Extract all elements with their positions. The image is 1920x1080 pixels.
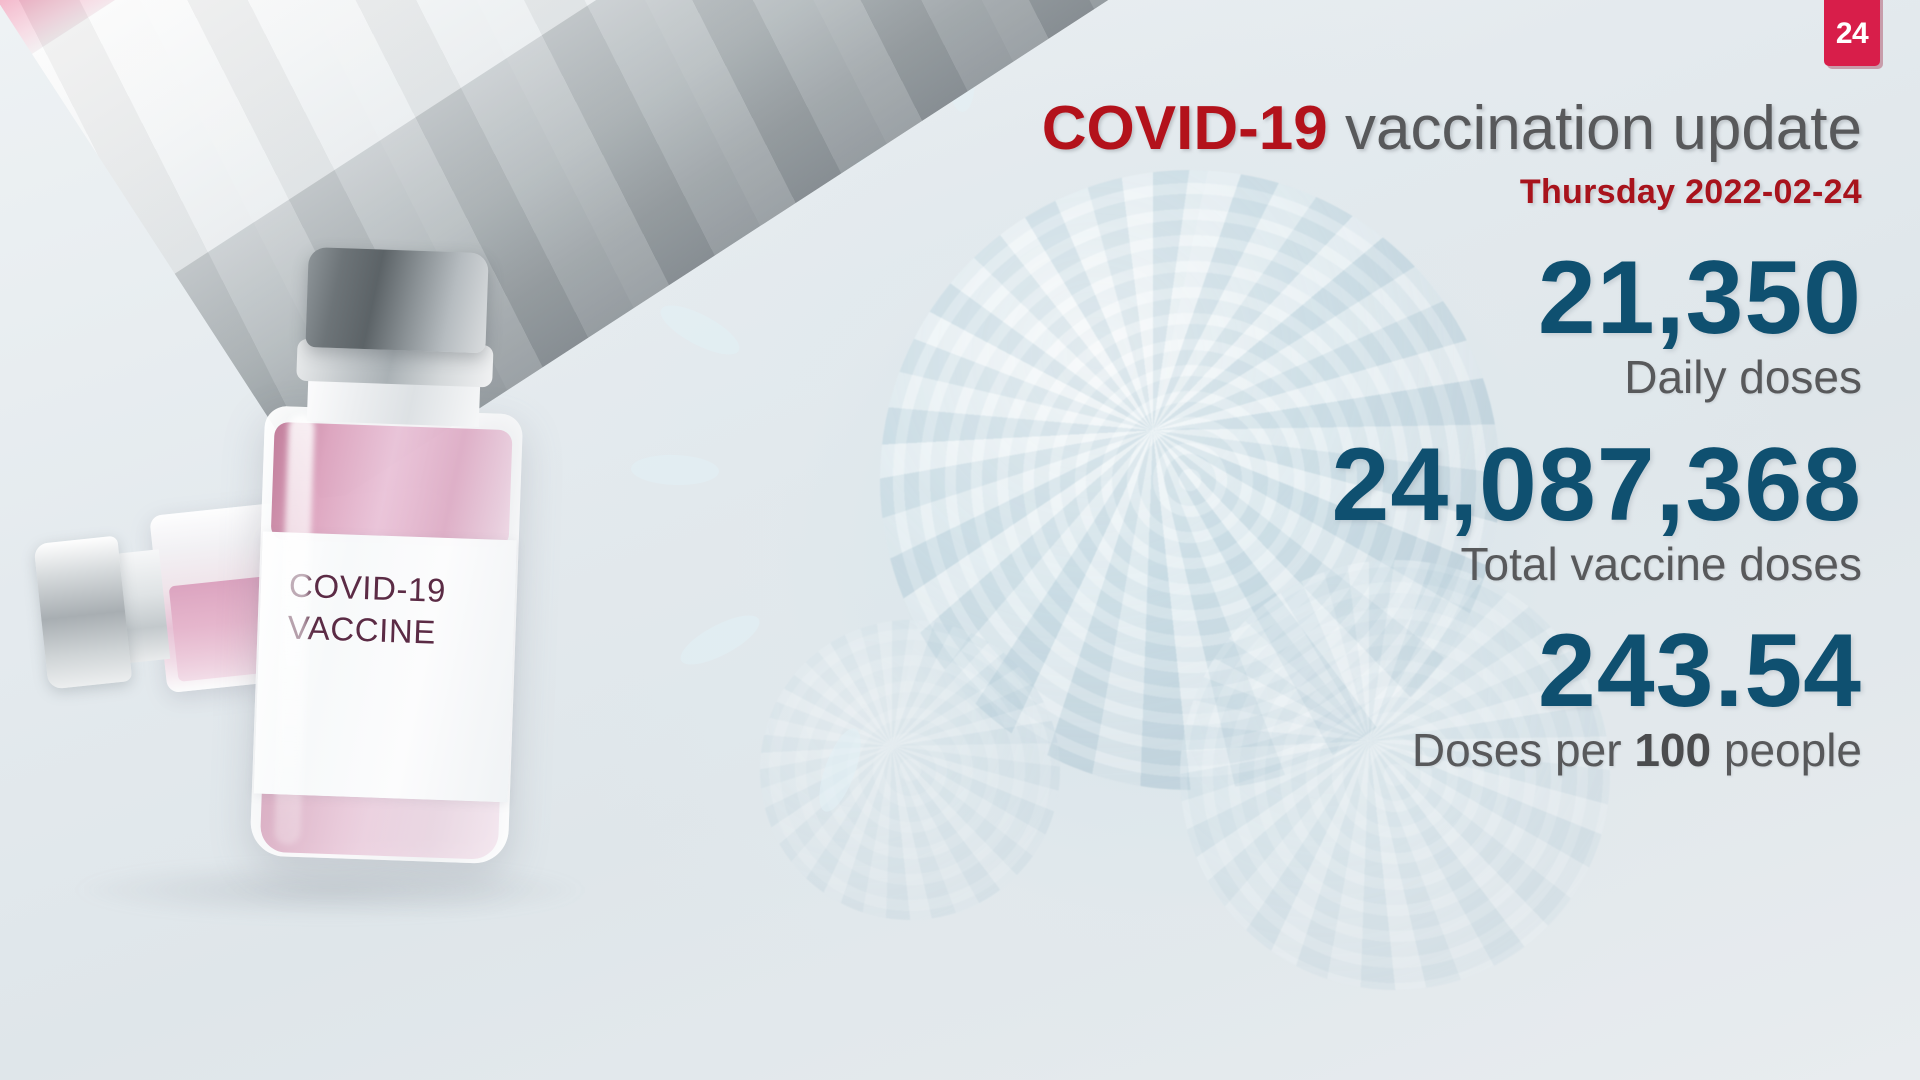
vial-cap [305,247,488,353]
vaccine-vials-illustration: COVID-19 VACCINE [40,260,660,880]
stat-label-post: people [1711,724,1862,776]
stat-doses-per-100: 243.54 Doses per 100 people [882,619,1862,776]
vial-cap [34,536,133,690]
24-logo-badge[interactable]: 24 [1824,0,1880,66]
stat-daily-doses: 21,350 Daily doses [882,246,1862,403]
stat-label: Doses per 100 people [882,725,1862,776]
vial-label-line1: COVID-19 [288,565,446,613]
stat-label-pre: Doses per [1412,724,1634,776]
stat-value: 24,087,368 [882,433,1862,537]
stats-panel: COVID-19 vaccination update Thursday 202… [882,96,1862,776]
title-highlight: COVID-19 [1042,94,1328,163]
vial-label-text: COVID-19 VACCINE [287,565,447,655]
vaccine-vial-primary: COVID-19 VACCINE [229,245,550,875]
page-title: COVID-19 vaccination update [882,96,1862,161]
stat-label: Total vaccine doses [882,539,1862,590]
stat-value: 21,350 [882,246,1862,350]
logo-text: 24 [1836,19,1868,49]
report-date: Thursday 2022-02-24 [882,173,1862,212]
infographic-canvas: COVID-19 VACCINE 24 COVID-19 vaccination… [0,0,1920,1080]
stat-label-bold: 100 [1634,724,1711,776]
title-rest: vaccination update [1328,94,1862,163]
stat-total-doses: 24,087,368 Total vaccine doses [882,433,1862,590]
stat-label: Daily doses [882,352,1862,403]
vial-label-line2: VACCINE [287,607,445,655]
stat-value: 243.54 [882,619,1862,723]
